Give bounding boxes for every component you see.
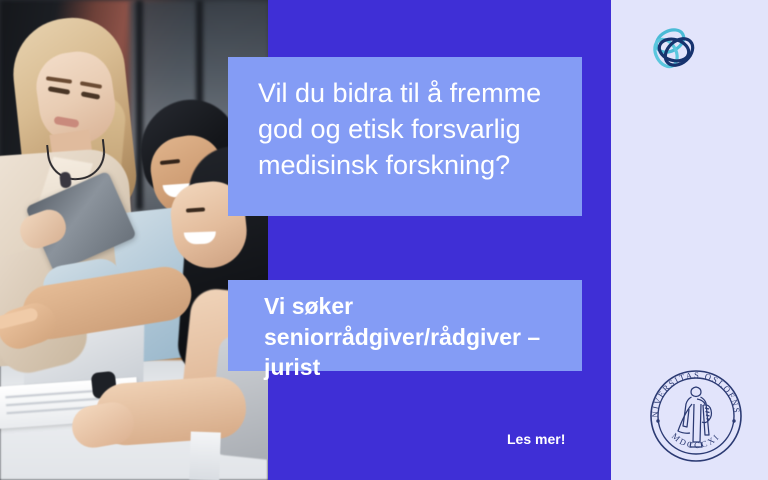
rek-logo[interactable]: REK — [650, 26, 750, 74]
read-more-link[interactable]: Les mer! — [507, 431, 565, 447]
uio-seal: UNIVERSITAS OSLOENSIS MDCCCXI — [644, 364, 748, 468]
subheadline-text: Vi søker seniorrådgiver/rådgiver – juris… — [264, 291, 574, 383]
apollo-with-lyre-icon: UNIVERSITAS OSLOENSIS MDCCCXI — [644, 364, 748, 468]
window-mullion — [136, 0, 143, 210]
necklace-pendant — [59, 171, 72, 188]
headline-text: Vil du bidra til å fremme god og etisk f… — [258, 76, 568, 184]
notebook — [189, 431, 221, 480]
svg-text:UNIVERSITAS OSLOENSIS: UNIVERSITAS OSLOENSIS — [644, 364, 742, 418]
recruitment-banner: REK UNIVERSITAS OSLOENSIS MDCCCXI — [0, 0, 768, 480]
interlocking-rings-icon — [650, 26, 750, 74]
